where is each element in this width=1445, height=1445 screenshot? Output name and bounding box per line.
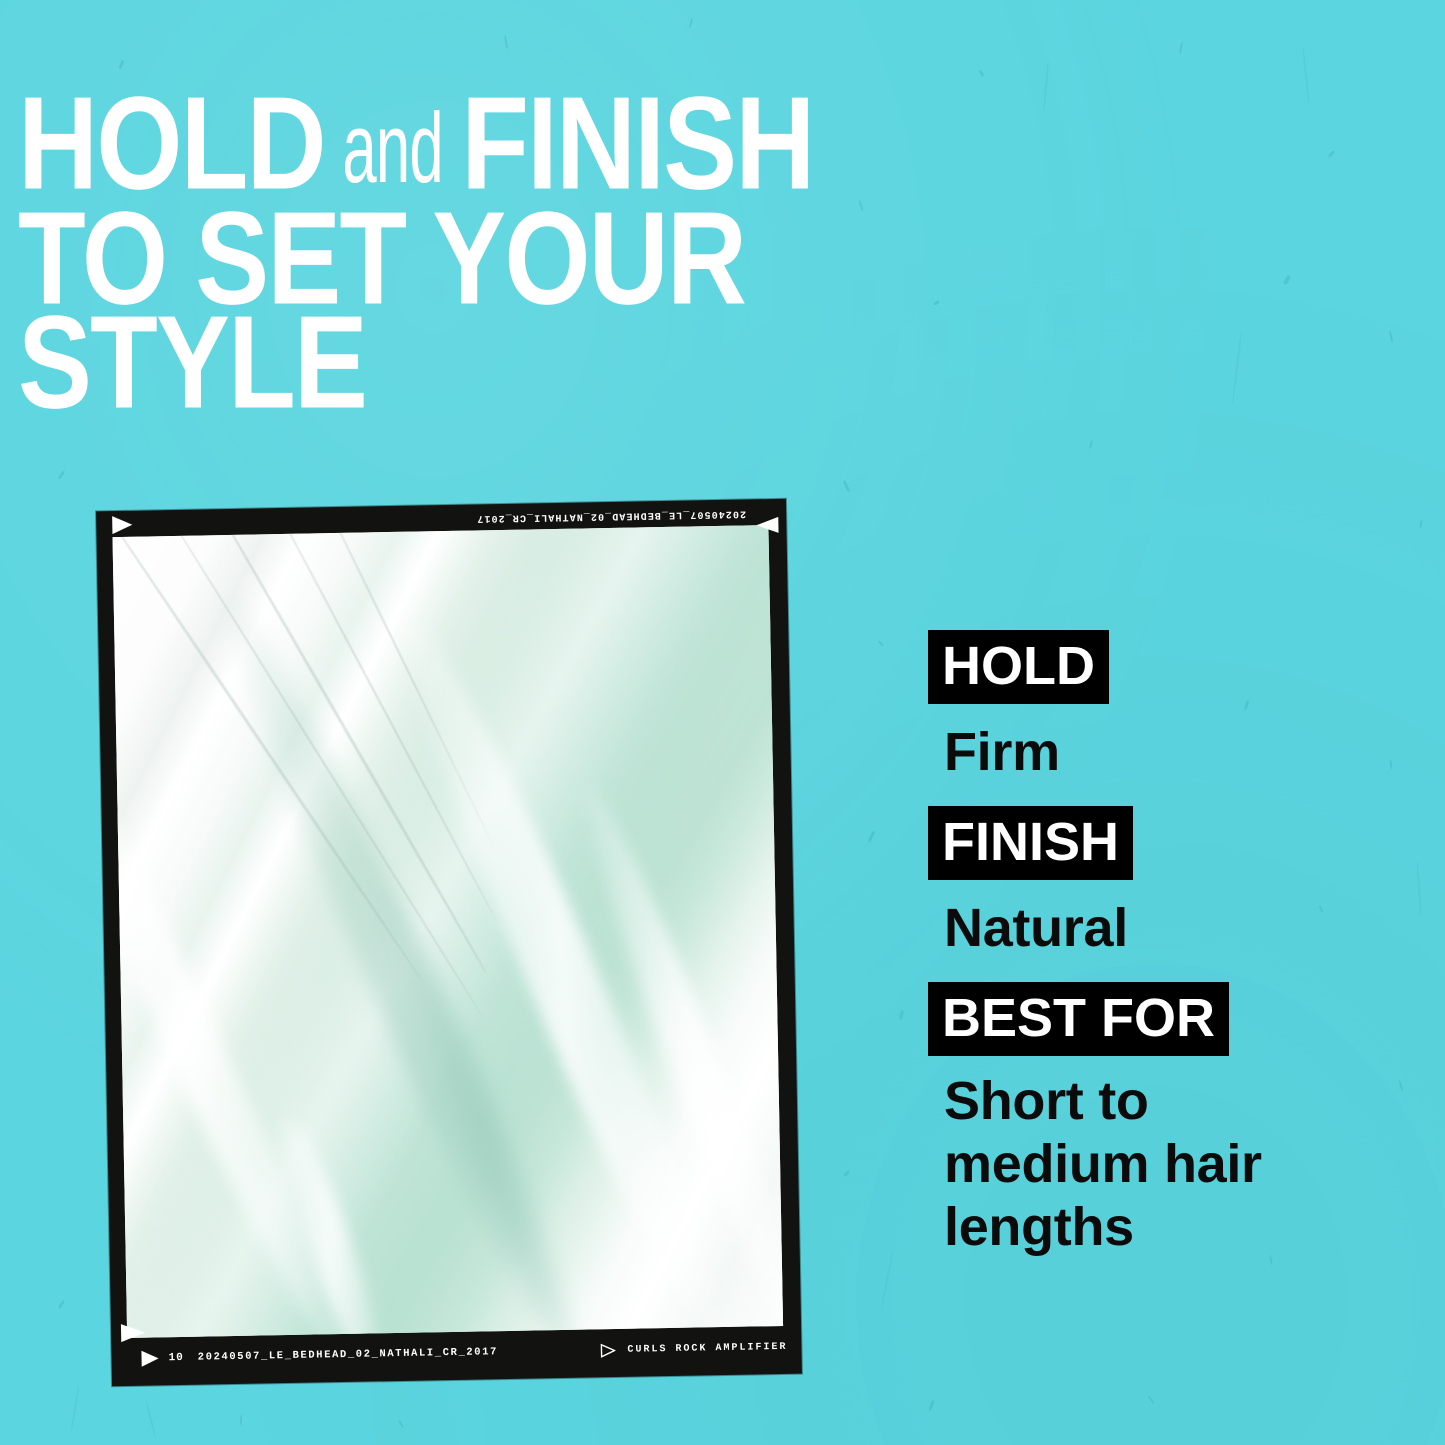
film-bottom-code: 20240507_LE_BEDHEAD_02_NATHALI_CR_2017	[198, 1346, 498, 1364]
product-spec-panel: HOLD Firm FINISH Natural BEST FOR Short …	[928, 630, 1358, 1268]
headline-line-3: STYLE	[18, 317, 1231, 421]
spec-row-best-for: BEST FOR	[928, 982, 1358, 1056]
film-edge-spacer	[498, 1350, 600, 1352]
spec-value-finish: Natural	[944, 900, 1358, 956]
film-notch-bottom-left-icon	[121, 1324, 145, 1342]
play-triangle-icon	[141, 1350, 158, 1366]
spec-row-hold: HOLD	[928, 630, 1358, 704]
spec-label-best-for: BEST FOR	[928, 982, 1229, 1056]
film-top-code: 20240507_LE_BEDHEAD_02_NATHALI_CR_2017	[476, 507, 746, 523]
product-photo-film-frame: 20240507_LE_BEDHEAD_02_NATHALI_CR_2017 1…	[96, 499, 802, 1386]
play-triangle-outline-icon	[600, 1343, 615, 1358]
product-swatch-photo	[113, 525, 784, 1338]
film-notch-top-left-icon	[112, 516, 132, 534]
film-notch-top-right-icon	[756, 517, 778, 533]
spec-value-best-for: Short to medium hair lengths	[944, 1070, 1344, 1258]
spec-label-hold: HOLD	[928, 630, 1109, 704]
film-frame-number: 10	[168, 1352, 183, 1364]
product-marketing-banner: HOLDandFINISH TO SET YOUR STYLE 20240507	[0, 0, 1445, 1445]
spec-row-finish: FINISH	[928, 806, 1358, 880]
headline-line-3-text: STYLE	[18, 305, 366, 421]
spec-label-finish: FINISH	[928, 806, 1133, 880]
film-product-name: CURLS ROCK AMPLIFIER	[627, 1341, 787, 1355]
spec-value-hold: Firm	[944, 724, 1358, 780]
page-headline: HOLDandFINISH TO SET YOUR STYLE	[18, 98, 1308, 421]
